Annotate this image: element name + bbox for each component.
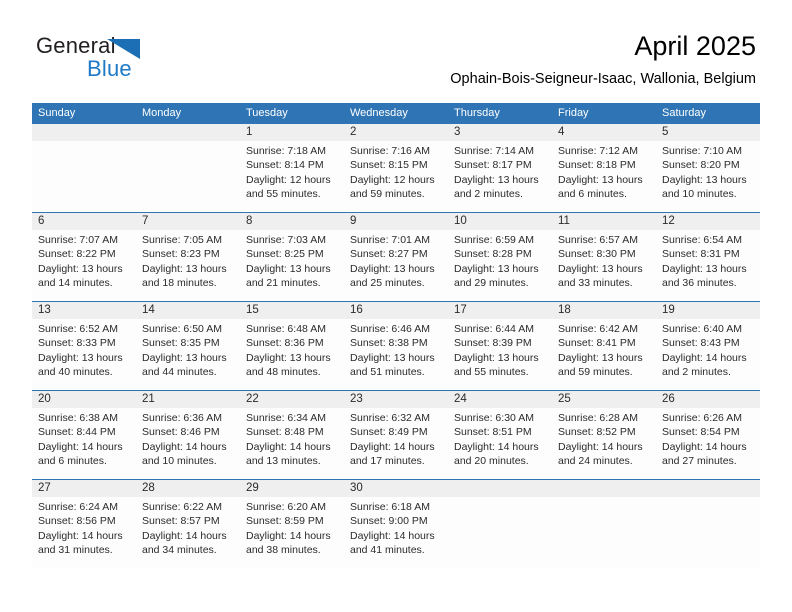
calendar-day-cell[interactable]: 27Sunrise: 6:24 AMSunset: 8:56 PMDayligh…	[32, 480, 136, 568]
daylight-text: Daylight: 13 hours and 36 minutes.	[662, 262, 758, 291]
sunrise-text: Sunrise: 7:10 AM	[662, 144, 756, 158]
day-number: 14	[136, 302, 240, 319]
sunrise-text: Sunrise: 6:48 AM	[246, 322, 340, 336]
daylight-text: Daylight: 13 hours and 21 minutes.	[246, 262, 342, 291]
calendar-day-cell[interactable]: 24Sunrise: 6:30 AMSunset: 8:51 PMDayligh…	[448, 391, 552, 479]
daylight-text: Daylight: 13 hours and 6 minutes.	[558, 173, 654, 202]
weekday-header-row: Sunday Monday Tuesday Wednesday Thursday…	[32, 103, 760, 124]
calendar-day-cell[interactable]: 30Sunrise: 6:18 AMSunset: 9:00 PMDayligh…	[344, 480, 448, 568]
calendar-day-cell[interactable]: 19Sunrise: 6:40 AMSunset: 8:43 PMDayligh…	[656, 302, 760, 390]
sunrise-text: Sunrise: 7:05 AM	[142, 233, 236, 247]
sunset-text: Sunset: 8:49 PM	[350, 425, 444, 439]
sunrise-text: Sunrise: 6:30 AM	[454, 411, 548, 425]
weekday-friday: Friday	[552, 103, 656, 124]
sunset-text: Sunset: 8:39 PM	[454, 336, 548, 350]
calendar-week-grid: 1Sunrise: 7:18 AMSunset: 8:14 PMDaylight…	[32, 124, 760, 212]
sunset-text: Sunset: 9:00 PM	[350, 514, 444, 528]
day-sun-info: Sunrise: 6:44 AMSunset: 8:39 PMDaylight:…	[448, 319, 552, 380]
calendar-day-cell[interactable]: 7Sunrise: 7:05 AMSunset: 8:23 PMDaylight…	[136, 213, 240, 301]
calendar-day-cell[interactable]: 6Sunrise: 7:07 AMSunset: 8:22 PMDaylight…	[32, 213, 136, 301]
calendar-week-grid: 13Sunrise: 6:52 AMSunset: 8:33 PMDayligh…	[32, 302, 760, 390]
day-sun-info: Sunrise: 7:05 AMSunset: 8:23 PMDaylight:…	[136, 230, 240, 291]
daylight-text: Daylight: 13 hours and 55 minutes.	[454, 351, 550, 380]
sunrise-text: Sunrise: 6:26 AM	[662, 411, 756, 425]
day-sun-info: Sunrise: 6:18 AMSunset: 9:00 PMDaylight:…	[344, 497, 448, 558]
day-number: 24	[448, 391, 552, 408]
daylight-text: Daylight: 13 hours and 29 minutes.	[454, 262, 550, 291]
calendar-week-row: 1Sunrise: 7:18 AMSunset: 8:14 PMDaylight…	[32, 124, 760, 212]
calendar-week-grid: 6Sunrise: 7:07 AMSunset: 8:22 PMDaylight…	[32, 213, 760, 301]
page-subtitle: Ophain-Bois-Seigneur-Isaac, Wallonia, Be…	[450, 70, 756, 88]
daylight-text: Daylight: 14 hours and 10 minutes.	[142, 440, 238, 469]
calendar-day-cell[interactable]: 15Sunrise: 6:48 AMSunset: 8:36 PMDayligh…	[240, 302, 344, 390]
daylight-text: Daylight: 14 hours and 27 minutes.	[662, 440, 758, 469]
calendar-day-cell[interactable]: 10Sunrise: 6:59 AMSunset: 8:28 PMDayligh…	[448, 213, 552, 301]
day-number: 1	[240, 124, 344, 141]
calendar-week-row: 20Sunrise: 6:38 AMSunset: 8:44 PMDayligh…	[32, 390, 760, 479]
calendar-day-cell[interactable]: 20Sunrise: 6:38 AMSunset: 8:44 PMDayligh…	[32, 391, 136, 479]
day-sun-info: Sunrise: 6:36 AMSunset: 8:46 PMDaylight:…	[136, 408, 240, 469]
sunrise-text: Sunrise: 6:20 AM	[246, 500, 340, 514]
calendar-week-row: 6Sunrise: 7:07 AMSunset: 8:22 PMDaylight…	[32, 212, 760, 301]
daylight-text: Daylight: 13 hours and 59 minutes.	[558, 351, 654, 380]
day-sun-info: Sunrise: 7:07 AMSunset: 8:22 PMDaylight:…	[32, 230, 136, 291]
daylight-text: Daylight: 12 hours and 55 minutes.	[246, 173, 342, 202]
calendar-day-cell[interactable]: 25Sunrise: 6:28 AMSunset: 8:52 PMDayligh…	[552, 391, 656, 479]
daylight-text: Daylight: 13 hours and 40 minutes.	[38, 351, 134, 380]
daylight-text: Daylight: 14 hours and 13 minutes.	[246, 440, 342, 469]
day-number: 16	[344, 302, 448, 319]
day-number: 22	[240, 391, 344, 408]
calendar-page: General Blue April 2025 Ophain-Bois-Seig…	[0, 0, 792, 612]
sunrise-text: Sunrise: 7:01 AM	[350, 233, 444, 247]
sunset-text: Sunset: 8:33 PM	[38, 336, 132, 350]
sunrise-text: Sunrise: 7:18 AM	[246, 144, 340, 158]
day-sun-info: Sunrise: 6:34 AMSunset: 8:48 PMDaylight:…	[240, 408, 344, 469]
sunrise-text: Sunrise: 6:38 AM	[38, 411, 132, 425]
page-header: General Blue April 2025 Ophain-Bois-Seig…	[0, 0, 792, 100]
day-sun-info: Sunrise: 6:46 AMSunset: 8:38 PMDaylight:…	[344, 319, 448, 380]
calendar-day-cell[interactable]: 26Sunrise: 6:26 AMSunset: 8:54 PMDayligh…	[656, 391, 760, 479]
day-sun-info: Sunrise: 6:52 AMSunset: 8:33 PMDaylight:…	[32, 319, 136, 380]
day-number: 11	[552, 213, 656, 230]
sunrise-text: Sunrise: 6:54 AM	[662, 233, 756, 247]
day-number: 27	[32, 480, 136, 497]
day-number	[656, 480, 760, 497]
daylight-text: Daylight: 13 hours and 10 minutes.	[662, 173, 758, 202]
day-number: 26	[656, 391, 760, 408]
day-sun-info: Sunrise: 6:59 AMSunset: 8:28 PMDaylight:…	[448, 230, 552, 291]
day-number	[136, 124, 240, 141]
sunrise-text: Sunrise: 6:52 AM	[38, 322, 132, 336]
day-number: 2	[344, 124, 448, 141]
day-number: 15	[240, 302, 344, 319]
sunrise-text: Sunrise: 6:34 AM	[246, 411, 340, 425]
day-sun-info: Sunrise: 6:54 AMSunset: 8:31 PMDaylight:…	[656, 230, 760, 291]
weekday-monday: Monday	[136, 103, 240, 124]
daylight-text: Daylight: 14 hours and 17 minutes.	[350, 440, 446, 469]
sunset-text: Sunset: 8:23 PM	[142, 247, 236, 261]
calendar-day-cell[interactable]: 11Sunrise: 6:57 AMSunset: 8:30 PMDayligh…	[552, 213, 656, 301]
sunrise-text: Sunrise: 6:42 AM	[558, 322, 652, 336]
daylight-text: Daylight: 13 hours and 44 minutes.	[142, 351, 238, 380]
weekday-sunday: Sunday	[32, 103, 136, 124]
calendar-week-grid: 27Sunrise: 6:24 AMSunset: 8:56 PMDayligh…	[32, 480, 760, 568]
title-block: April 2025 Ophain-Bois-Seigneur-Isaac, W…	[450, 30, 756, 88]
day-number: 8	[240, 213, 344, 230]
day-sun-info: Sunrise: 6:57 AMSunset: 8:30 PMDaylight:…	[552, 230, 656, 291]
daylight-text: Daylight: 14 hours and 38 minutes.	[246, 529, 342, 558]
calendar-day-cell-empty	[552, 480, 656, 568]
day-number	[32, 124, 136, 141]
sunrise-text: Sunrise: 7:03 AM	[246, 233, 340, 247]
calendar-day-cell[interactable]: 1Sunrise: 7:18 AMSunset: 8:14 PMDaylight…	[240, 124, 344, 212]
calendar-week-row: 13Sunrise: 6:52 AMSunset: 8:33 PMDayligh…	[32, 301, 760, 390]
sunrise-text: Sunrise: 7:07 AM	[38, 233, 132, 247]
calendar-day-cell-empty	[136, 124, 240, 212]
calendar-day-cell[interactable]: 23Sunrise: 6:32 AMSunset: 8:49 PMDayligh…	[344, 391, 448, 479]
sunset-text: Sunset: 8:14 PM	[246, 158, 340, 172]
day-sun-info: Sunrise: 6:22 AMSunset: 8:57 PMDaylight:…	[136, 497, 240, 558]
sunset-text: Sunset: 8:38 PM	[350, 336, 444, 350]
sunset-text: Sunset: 8:28 PM	[454, 247, 548, 261]
sunrise-text: Sunrise: 7:12 AM	[558, 144, 652, 158]
calendar-grid: Sunday Monday Tuesday Wednesday Thursday…	[32, 103, 760, 568]
sunrise-text: Sunrise: 7:16 AM	[350, 144, 444, 158]
sunset-text: Sunset: 8:48 PM	[246, 425, 340, 439]
daylight-text: Daylight: 13 hours and 14 minutes.	[38, 262, 134, 291]
sunrise-text: Sunrise: 6:24 AM	[38, 500, 132, 514]
daylight-text: Daylight: 13 hours and 51 minutes.	[350, 351, 446, 380]
sunrise-text: Sunrise: 6:40 AM	[662, 322, 756, 336]
day-number: 5	[656, 124, 760, 141]
day-number: 7	[136, 213, 240, 230]
calendar-day-cell-empty	[32, 124, 136, 212]
daylight-text: Daylight: 14 hours and 20 minutes.	[454, 440, 550, 469]
sunset-text: Sunset: 8:15 PM	[350, 158, 444, 172]
day-sun-info: Sunrise: 6:20 AMSunset: 8:59 PMDaylight:…	[240, 497, 344, 558]
calendar-day-cell[interactable]: 2Sunrise: 7:16 AMSunset: 8:15 PMDaylight…	[344, 124, 448, 212]
day-number	[448, 480, 552, 497]
sunset-text: Sunset: 8:25 PM	[246, 247, 340, 261]
daylight-text: Daylight: 12 hours and 59 minutes.	[350, 173, 446, 202]
day-number: 9	[344, 213, 448, 230]
day-number: 23	[344, 391, 448, 408]
sunset-text: Sunset: 8:22 PM	[38, 247, 132, 261]
daylight-text: Daylight: 14 hours and 34 minutes.	[142, 529, 238, 558]
day-number: 17	[448, 302, 552, 319]
sunset-text: Sunset: 8:18 PM	[558, 158, 652, 172]
calendar-day-cell-empty	[448, 480, 552, 568]
weekday-wednesday: Wednesday	[344, 103, 448, 124]
calendar-day-cell[interactable]: 3Sunrise: 7:14 AMSunset: 8:17 PMDaylight…	[448, 124, 552, 212]
calendar-weeks: 1Sunrise: 7:18 AMSunset: 8:14 PMDaylight…	[32, 124, 760, 568]
day-sun-info: Sunrise: 6:38 AMSunset: 8:44 PMDaylight:…	[32, 408, 136, 469]
day-number: 21	[136, 391, 240, 408]
sunrise-text: Sunrise: 6:28 AM	[558, 411, 652, 425]
daylight-text: Daylight: 14 hours and 6 minutes.	[38, 440, 134, 469]
day-number: 10	[448, 213, 552, 230]
sunrise-text: Sunrise: 6:32 AM	[350, 411, 444, 425]
calendar-day-cell[interactable]: 29Sunrise: 6:20 AMSunset: 8:59 PMDayligh…	[240, 480, 344, 568]
calendar-day-cell[interactable]: 8Sunrise: 7:03 AMSunset: 8:25 PMDaylight…	[240, 213, 344, 301]
weekday-tuesday: Tuesday	[240, 103, 344, 124]
page-title: April 2025	[450, 30, 756, 62]
sunrise-text: Sunrise: 6:36 AM	[142, 411, 236, 425]
daylight-text: Daylight: 13 hours and 33 minutes.	[558, 262, 654, 291]
calendar-day-cell[interactable]: 21Sunrise: 6:36 AMSunset: 8:46 PMDayligh…	[136, 391, 240, 479]
day-number: 18	[552, 302, 656, 319]
day-sun-info: Sunrise: 6:48 AMSunset: 8:36 PMDaylight:…	[240, 319, 344, 380]
day-sun-info: Sunrise: 6:30 AMSunset: 8:51 PMDaylight:…	[448, 408, 552, 469]
general-blue-logo[interactable]: General Blue	[36, 33, 216, 85]
daylight-text: Daylight: 13 hours and 18 minutes.	[142, 262, 238, 291]
calendar-day-cell[interactable]: 22Sunrise: 6:34 AMSunset: 8:48 PMDayligh…	[240, 391, 344, 479]
sunrise-text: Sunrise: 6:18 AM	[350, 500, 444, 514]
daylight-text: Daylight: 14 hours and 2 minutes.	[662, 351, 758, 380]
calendar-day-cell[interactable]: 5Sunrise: 7:10 AMSunset: 8:20 PMDaylight…	[656, 124, 760, 212]
sunset-text: Sunset: 8:36 PM	[246, 336, 340, 350]
day-number: 19	[656, 302, 760, 319]
sunset-text: Sunset: 8:17 PM	[454, 158, 548, 172]
calendar-day-cell[interactable]: 17Sunrise: 6:44 AMSunset: 8:39 PMDayligh…	[448, 302, 552, 390]
calendar-day-cell[interactable]: 12Sunrise: 6:54 AMSunset: 8:31 PMDayligh…	[656, 213, 760, 301]
daylight-text: Daylight: 14 hours and 31 minutes.	[38, 529, 134, 558]
sunset-text: Sunset: 8:46 PM	[142, 425, 236, 439]
day-sun-info: Sunrise: 6:24 AMSunset: 8:56 PMDaylight:…	[32, 497, 136, 558]
sunrise-text: Sunrise: 6:59 AM	[454, 233, 548, 247]
daylight-text: Daylight: 13 hours and 25 minutes.	[350, 262, 446, 291]
day-number: 28	[136, 480, 240, 497]
day-sun-info: Sunrise: 6:42 AMSunset: 8:41 PMDaylight:…	[552, 319, 656, 380]
weekday-saturday: Saturday	[656, 103, 760, 124]
day-sun-info: Sunrise: 7:10 AMSunset: 8:20 PMDaylight:…	[656, 141, 760, 202]
day-number	[552, 480, 656, 497]
sunset-text: Sunset: 8:52 PM	[558, 425, 652, 439]
calendar-day-cell[interactable]: 28Sunrise: 6:22 AMSunset: 8:57 PMDayligh…	[136, 480, 240, 568]
calendar-day-cell[interactable]: 18Sunrise: 6:42 AMSunset: 8:41 PMDayligh…	[552, 302, 656, 390]
sunset-text: Sunset: 8:27 PM	[350, 247, 444, 261]
sunrise-text: Sunrise: 6:44 AM	[454, 322, 548, 336]
sunrise-text: Sunrise: 6:22 AM	[142, 500, 236, 514]
day-sun-info: Sunrise: 6:50 AMSunset: 8:35 PMDaylight:…	[136, 319, 240, 380]
sunset-text: Sunset: 8:43 PM	[662, 336, 756, 350]
daylight-text: Daylight: 14 hours and 24 minutes.	[558, 440, 654, 469]
sunset-text: Sunset: 8:56 PM	[38, 514, 132, 528]
day-number: 6	[32, 213, 136, 230]
day-sun-info: Sunrise: 7:01 AMSunset: 8:27 PMDaylight:…	[344, 230, 448, 291]
calendar-day-cell[interactable]: 14Sunrise: 6:50 AMSunset: 8:35 PMDayligh…	[136, 302, 240, 390]
calendar-week-grid: 20Sunrise: 6:38 AMSunset: 8:44 PMDayligh…	[32, 391, 760, 479]
calendar-week-row: 27Sunrise: 6:24 AMSunset: 8:56 PMDayligh…	[32, 479, 760, 568]
sunset-text: Sunset: 8:35 PM	[142, 336, 236, 350]
sunset-text: Sunset: 8:31 PM	[662, 247, 756, 261]
day-sun-info: Sunrise: 7:16 AMSunset: 8:15 PMDaylight:…	[344, 141, 448, 202]
day-sun-info: Sunrise: 7:18 AMSunset: 8:14 PMDaylight:…	[240, 141, 344, 202]
sunset-text: Sunset: 8:57 PM	[142, 514, 236, 528]
sunrise-text: Sunrise: 6:57 AM	[558, 233, 652, 247]
day-sun-info: Sunrise: 6:26 AMSunset: 8:54 PMDaylight:…	[656, 408, 760, 469]
day-sun-info: Sunrise: 6:32 AMSunset: 8:49 PMDaylight:…	[344, 408, 448, 469]
day-number: 20	[32, 391, 136, 408]
day-sun-info: Sunrise: 6:28 AMSunset: 8:52 PMDaylight:…	[552, 408, 656, 469]
day-sun-info: Sunrise: 6:40 AMSunset: 8:43 PMDaylight:…	[656, 319, 760, 380]
sunset-text: Sunset: 8:51 PM	[454, 425, 548, 439]
daylight-text: Daylight: 13 hours and 48 minutes.	[246, 351, 342, 380]
sunrise-text: Sunrise: 6:46 AM	[350, 322, 444, 336]
calendar-day-cell-empty	[656, 480, 760, 568]
day-number: 13	[32, 302, 136, 319]
day-number: 12	[656, 213, 760, 230]
calendar-day-cell[interactable]: 9Sunrise: 7:01 AMSunset: 8:27 PMDaylight…	[344, 213, 448, 301]
sunset-text: Sunset: 8:20 PM	[662, 158, 756, 172]
sunset-text: Sunset: 8:30 PM	[558, 247, 652, 261]
calendar-day-cell[interactable]: 4Sunrise: 7:12 AMSunset: 8:18 PMDaylight…	[552, 124, 656, 212]
day-number: 4	[552, 124, 656, 141]
day-sun-info: Sunrise: 7:03 AMSunset: 8:25 PMDaylight:…	[240, 230, 344, 291]
day-number: 3	[448, 124, 552, 141]
day-number: 25	[552, 391, 656, 408]
day-number: 30	[344, 480, 448, 497]
weekday-thursday: Thursday	[448, 103, 552, 124]
day-sun-info: Sunrise: 7:14 AMSunset: 8:17 PMDaylight:…	[448, 141, 552, 202]
day-number: 29	[240, 480, 344, 497]
sunrise-text: Sunrise: 7:14 AM	[454, 144, 548, 158]
daylight-text: Daylight: 13 hours and 2 minutes.	[454, 173, 550, 202]
sunset-text: Sunset: 8:54 PM	[662, 425, 756, 439]
calendar-day-cell[interactable]: 13Sunrise: 6:52 AMSunset: 8:33 PMDayligh…	[32, 302, 136, 390]
sunset-text: Sunset: 8:44 PM	[38, 425, 132, 439]
daylight-text: Daylight: 14 hours and 41 minutes.	[350, 529, 446, 558]
sunset-text: Sunset: 8:59 PM	[246, 514, 340, 528]
calendar-day-cell[interactable]: 16Sunrise: 6:46 AMSunset: 8:38 PMDayligh…	[344, 302, 448, 390]
day-sun-info: Sunrise: 7:12 AMSunset: 8:18 PMDaylight:…	[552, 141, 656, 202]
sunrise-text: Sunrise: 6:50 AM	[142, 322, 236, 336]
sunset-text: Sunset: 8:41 PM	[558, 336, 652, 350]
logo-text-blue: Blue	[87, 56, 132, 82]
